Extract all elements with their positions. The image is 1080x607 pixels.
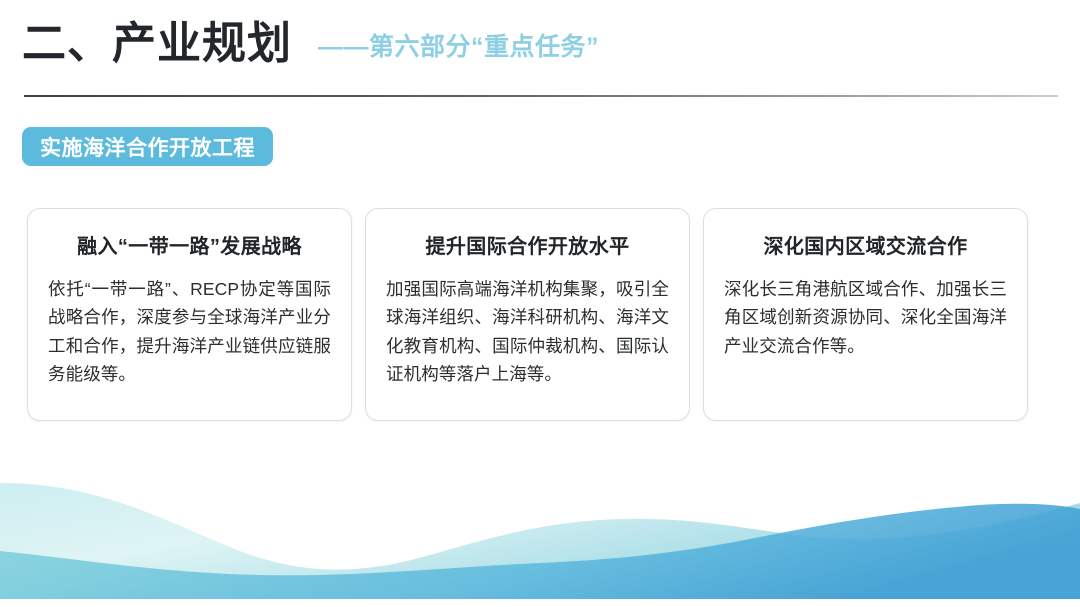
- card-body: 依托“一带一路”、RECP协定等国际战略合作，深度参与全球海洋产业分工和合作，提…: [48, 275, 331, 388]
- title-row: 二、产业规划 ——第六部分“重点任务”: [22, 22, 599, 66]
- card-title: 提升国际合作开放水平: [386, 235, 669, 259]
- card-body: 深化长三角港航区域合作、加强长三角区域创新资源协同、深化全国海洋产业交流合作等。: [724, 275, 1007, 360]
- slide-root: 二、产业规划 ——第六部分“重点任务” 实施海洋合作开放工程 融入“一带一路”发…: [0, 0, 1080, 607]
- page-subtitle: ——第六部分“重点任务”: [318, 35, 599, 60]
- page-title: 二、产业规划: [22, 22, 292, 66]
- header-divider: [24, 95, 1058, 97]
- wave-decoration: [0, 447, 1080, 607]
- slide-header: 二、产业规划 ——第六部分“重点任务”: [0, 0, 1080, 96]
- card-body: 加强国际高端海洋机构集聚，吸引全球海洋组织、海洋科研机构、海洋文化教育机构、国际…: [386, 275, 669, 388]
- card-item: 深化国内区域交流合作 深化长三角港航区域合作、加强长三角区域创新资源协同、深化全…: [703, 208, 1028, 421]
- card-list: 融入“一带一路”发展战略 依托“一带一路”、RECP协定等国际战略合作，深度参与…: [27, 208, 1028, 421]
- status-badge: 实施海洋合作开放工程: [22, 127, 273, 166]
- card-item: 融入“一带一路”发展战略 依托“一带一路”、RECP协定等国际战略合作，深度参与…: [27, 208, 352, 421]
- wave-svg: [0, 447, 1080, 607]
- card-title: 深化国内区域交流合作: [724, 235, 1007, 259]
- card-title: 融入“一带一路”发展战略: [48, 235, 331, 259]
- card-item: 提升国际合作开放水平 加强国际高端海洋机构集聚，吸引全球海洋组织、海洋科研机构、…: [365, 208, 690, 421]
